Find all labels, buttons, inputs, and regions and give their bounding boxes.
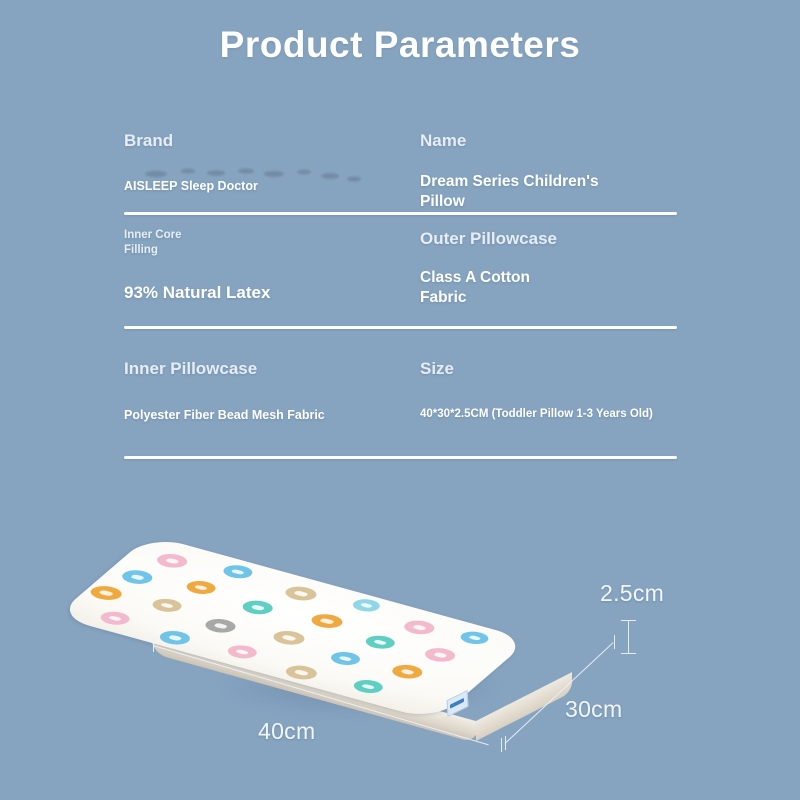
spec-label: Size: [420, 358, 677, 388]
spec-label: Name: [420, 130, 677, 160]
spec-value: Dream Series Children's Pillow: [420, 172, 677, 212]
row-divider: [124, 212, 677, 215]
spec-label: Inner Pillowcase: [124, 358, 420, 388]
row-divider: [124, 456, 677, 459]
spec-row: Inner Core Filling 93% Natural Latex Out…: [124, 228, 677, 340]
spec-cell-inner-core-filling: Inner Core Filling 93% Natural Latex: [124, 228, 420, 308]
dimension-label-height: 2.5cm: [600, 580, 664, 607]
dimension-tick-depth-left: [505, 736, 506, 750]
spec-value: Polyester Fiber Bead Mesh Fabric: [124, 407, 420, 423]
dimension-tick-width-right: [501, 738, 502, 752]
dimension-tick-depth-right: [614, 635, 615, 649]
spec-value: 93% Natural Latex: [124, 282, 420, 303]
product-image: 40cm 30cm 2.5cm: [0, 500, 800, 800]
page-title: Product Parameters: [0, 24, 800, 66]
dimension-cap-height-top: [621, 620, 636, 621]
spec-label: Brand: [124, 130, 420, 160]
dimension-label-width: 40cm: [258, 718, 315, 745]
spec-cell-outer-pillowcase: Outer Pillowcase Class A Cotton Fabric: [420, 228, 677, 308]
spec-cell-brand: Brand AISLEEP Sleep Doctor: [124, 130, 420, 212]
pillow-right-edge: [476, 672, 572, 741]
row-divider: [124, 326, 677, 329]
spec-row: Brand AISLEEP Sleep Doctor: [124, 130, 677, 206]
spec-cell-name: Name Dream Series Children's Pillow: [420, 130, 677, 212]
dimension-tick-width-left: [153, 638, 154, 652]
product-parameters-page: Product Parameters Brand AISLEEP Sleep D…: [0, 0, 800, 800]
spec-value: Class A Cotton Fabric: [420, 268, 677, 308]
spec-cell-size: Size 40*30*2.5CM (Toddler Pillow 1-3 Yea…: [420, 358, 677, 423]
spec-value: 40*30*2.5CM (Toddler Pillow 1-3 Years Ol…: [420, 407, 677, 422]
spec-label: Inner Core Filling: [124, 228, 420, 258]
spec-label: Outer Pillowcase: [420, 228, 677, 249]
dimension-cap-height-bottom: [621, 653, 636, 654]
dimension-line-height: [628, 620, 629, 654]
dimension-label-depth: 30cm: [565, 696, 622, 723]
spec-row: Inner Pillowcase Polyester Fiber Bead Me…: [124, 358, 677, 470]
spec-table: Brand AISLEEP Sleep Doctor: [124, 130, 677, 470]
spec-cell-inner-pillowcase: Inner Pillowcase Polyester Fiber Bead Me…: [124, 358, 420, 423]
pillow-illustration: [150, 535, 570, 745]
spec-value: AISLEEP Sleep Doctor: [124, 178, 420, 194]
